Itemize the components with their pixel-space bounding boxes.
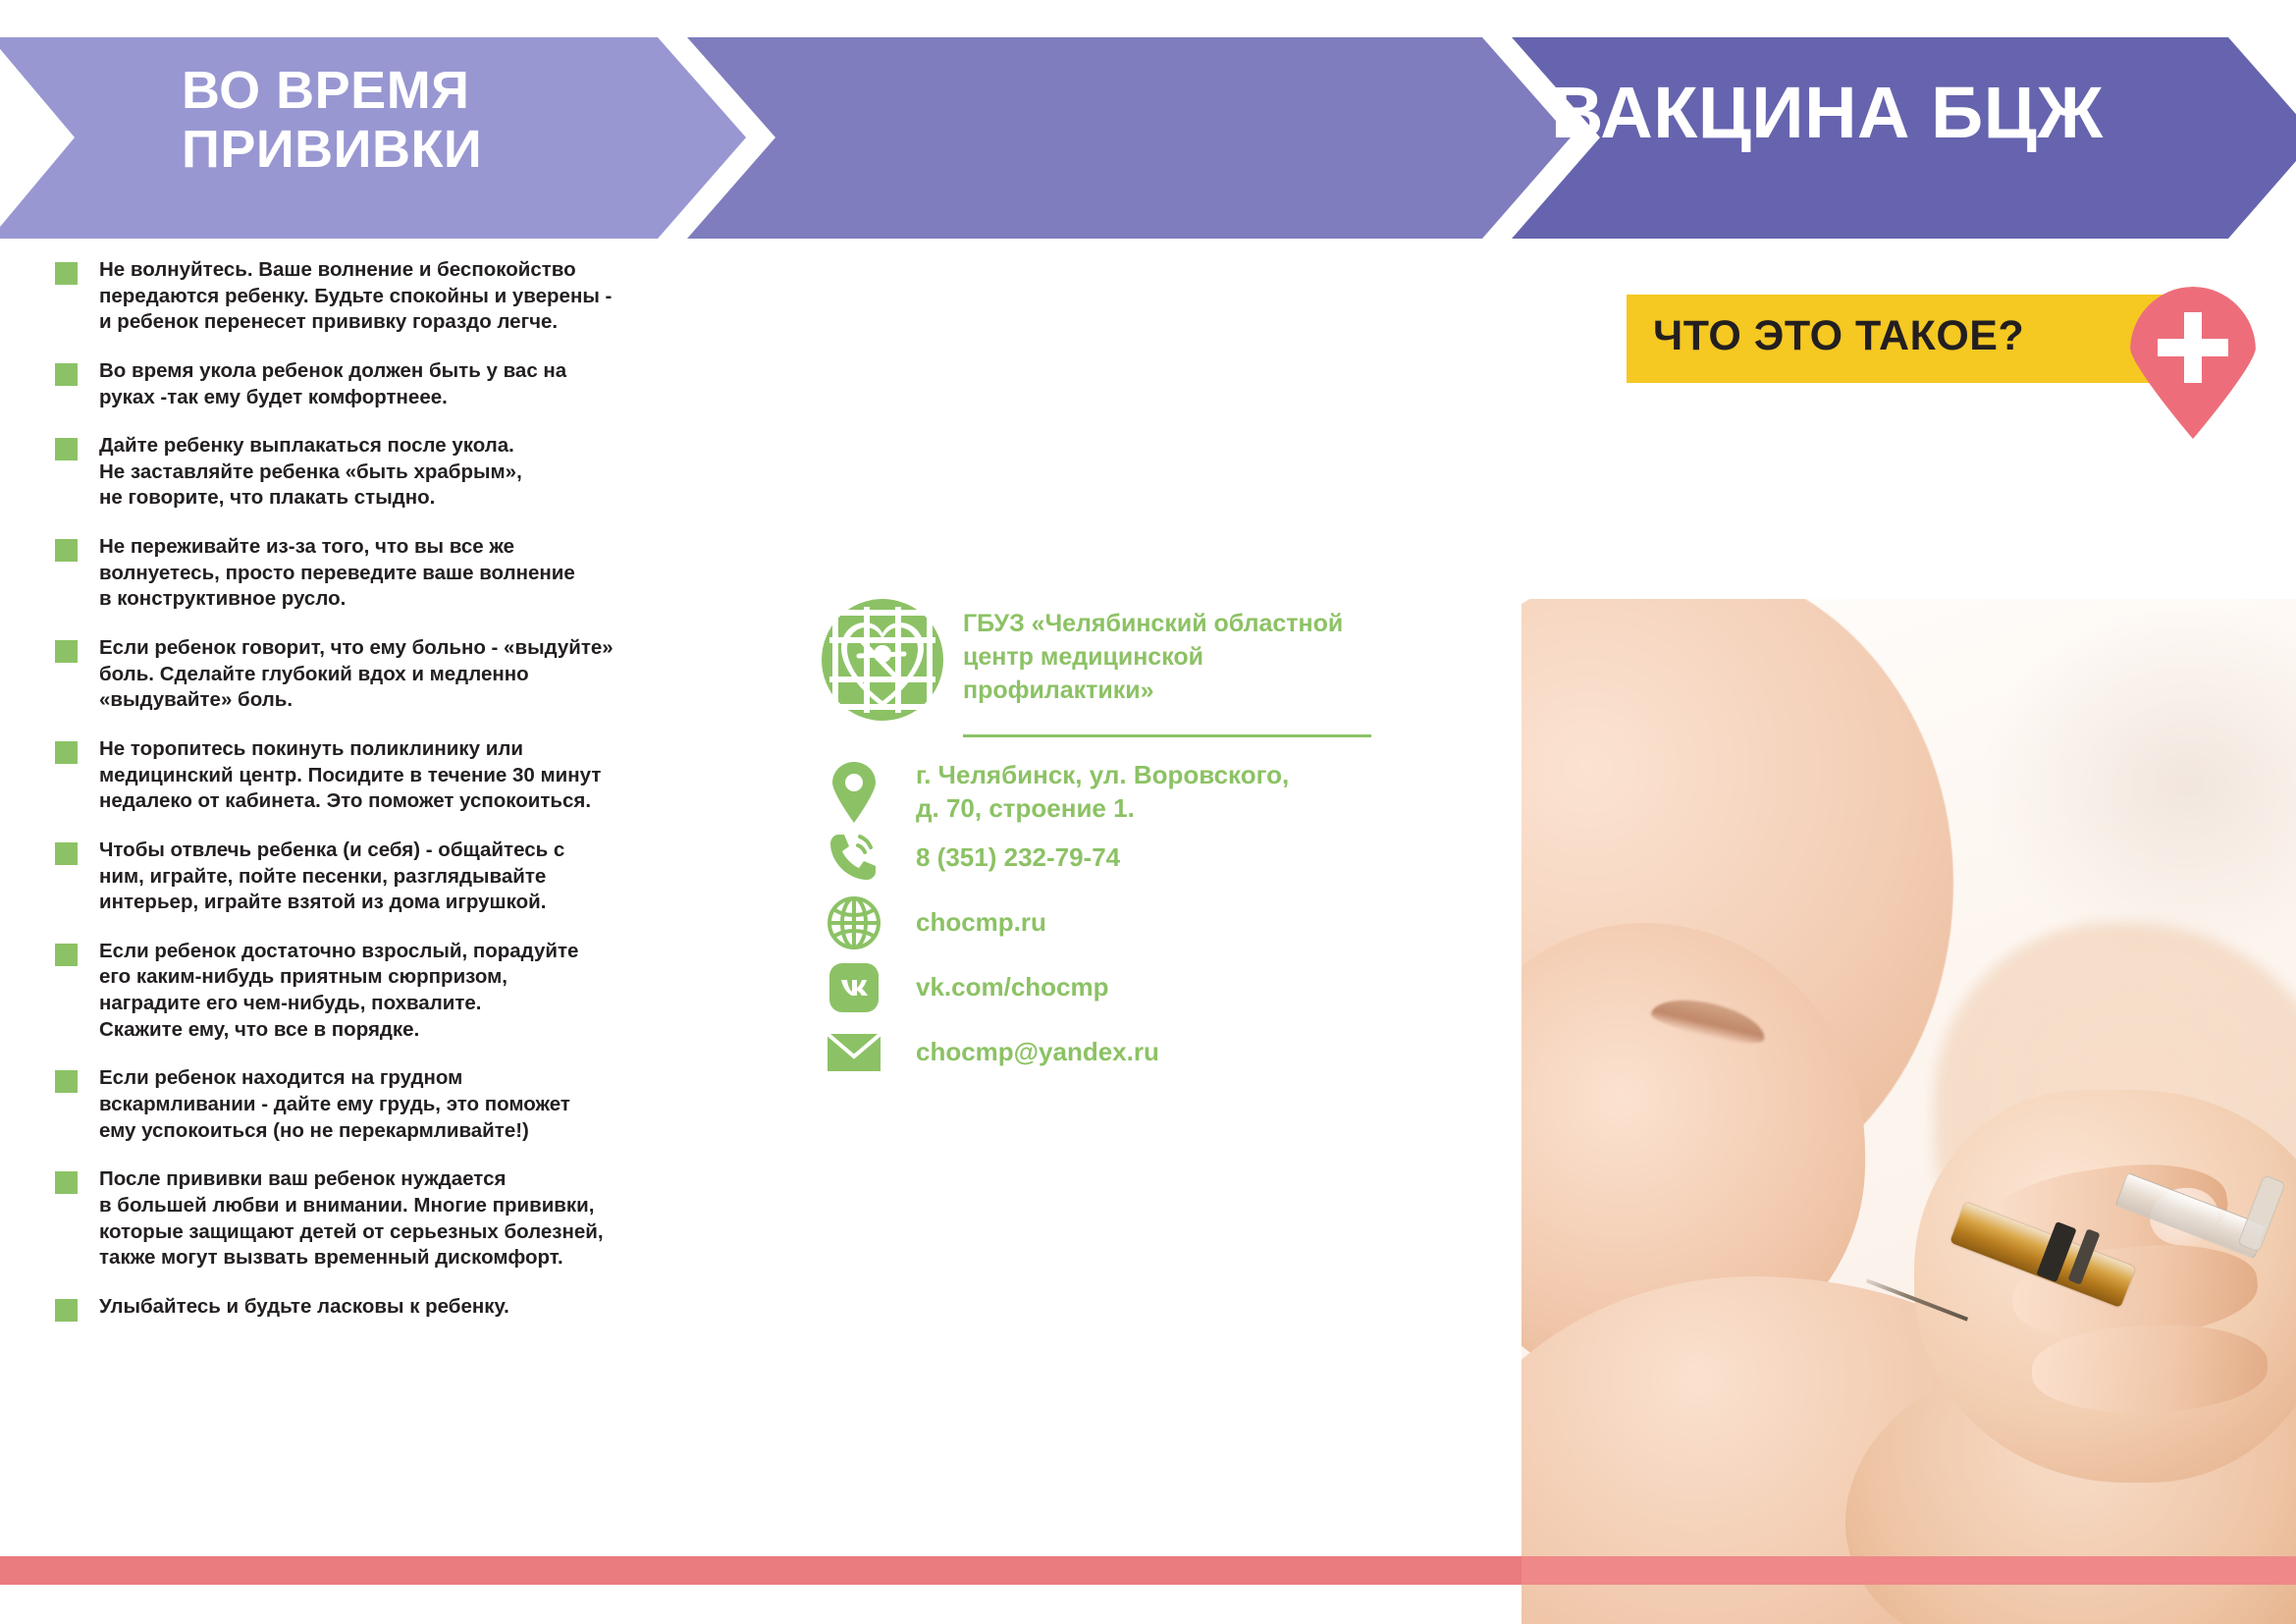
bottom-accent-bar-over-photo (1522, 1556, 2296, 1585)
contact-website-value[interactable]: chocmp.ru (916, 906, 1428, 940)
list-item-text: Чтобы отвлечь ребенка (и себя) - общайте… (99, 838, 693, 916)
list-item: Не переживайте из-за того, что вы все же… (55, 534, 693, 613)
list-item: Не волнуйтесь. Ваше волнение и беспокойс… (55, 257, 693, 336)
envelope-icon (820, 1022, 888, 1083)
bullet-square-icon (55, 438, 78, 460)
map-pin-plus-icon (2130, 287, 2256, 439)
list-item: Не торопитесь покинуть поликлинику или м… (55, 736, 693, 815)
contact-email-value[interactable]: chocmp@yandex.ru (916, 1036, 1428, 1069)
bullet-square-icon (55, 363, 78, 386)
contact-address-value: г. Челябинск, ул. Воровского, д. 70, стр… (916, 759, 1428, 826)
bullet-square-icon (55, 539, 78, 562)
list-item-text: Во время укола ребенок должен быть у вас… (99, 358, 693, 410)
bullet-square-icon (55, 262, 78, 285)
pin-cross-horizontal (2158, 339, 2228, 356)
header-title-left: ВО ВРЕМЯ ПРИВИВКИ (182, 61, 692, 180)
contact-divider (963, 734, 1371, 737)
list-item-text: Если ребенок достаточно взрослый, пораду… (99, 939, 693, 1044)
list-item: Во время укола ребенок должен быть у вас… (55, 358, 693, 410)
baby-vaccination-photo (1522, 599, 2296, 1624)
list-item-text: Если ребенок находится на грудном вскарм… (99, 1065, 693, 1144)
bullet-square-icon (55, 944, 78, 966)
advice-bullet-list: Не волнуйтесь. Ваше волнение и беспокойс… (55, 257, 693, 1344)
contact-row-vk: vk.com/chocmp (820, 955, 1428, 1020)
contact-row-address: г. Челябинск, ул. Воровского, д. 70, стр… (820, 759, 1428, 826)
organization-name: ГБУЗ «Челябинский областной центр медици… (963, 597, 1428, 707)
callout-label: ЧТО ЭТО ТАКОЕ? (1653, 312, 2173, 360)
what-is-it-callout: ЧТО ЭТО ТАКОЕ? (1627, 287, 2296, 439)
header-title-right: ВАКЦИНА БЦЖ (1551, 77, 2277, 149)
list-item-text: Не торопитесь покинуть поликлинику или м… (99, 736, 693, 815)
list-item-text: Если ребенок говорит, что ему больно - «… (99, 635, 693, 714)
organization-row: ГБУЗ «Челябинский областной центр медици… (820, 597, 1428, 723)
list-item: Улыбайтесь и будьте ласковы к ребенку. (55, 1294, 693, 1322)
list-item: Если ребенок говорит, что ему больно - «… (55, 635, 693, 714)
vk-icon (820, 957, 888, 1018)
bullet-square-icon (55, 1171, 78, 1194)
list-item-text: Дайте ребенку выплакаться после укола. Н… (99, 433, 693, 512)
list-item: Дайте ребенку выплакаться после укола. Н… (55, 433, 693, 512)
bullet-square-icon (55, 1299, 78, 1322)
list-item: Если ребенок достаточно взрослый, пораду… (55, 939, 693, 1044)
bullet-square-icon (55, 741, 78, 764)
bullet-square-icon (55, 1070, 78, 1093)
contact-block: ГБУЗ «Челябинский областной центр медици… (820, 597, 1428, 1085)
contact-vk-value[interactable]: vk.com/chocmp (916, 971, 1428, 1004)
globe-icon (820, 893, 888, 953)
map-pin-icon (820, 762, 888, 823)
contact-details-list: г. Челябинск, ул. Воровского, д. 70, стр… (820, 759, 1428, 1085)
contact-phone-value: 8 (351) 232-79-74 (916, 841, 1428, 875)
list-item: Чтобы отвлечь ребенка (и себя) - общайте… (55, 838, 693, 916)
list-item-text: Не волнуйтесь. Ваше волнение и беспокойс… (99, 257, 693, 336)
contact-row-phone: 8 (351) 232-79-74 (820, 826, 1428, 891)
page-header: ВО ВРЕМЯ ПРИВИВКИ ВАКЦИНА БЦЖ (0, 0, 2296, 244)
bullet-square-icon (55, 842, 78, 865)
list-item-text: Не переживайте из-за того, что вы все же… (99, 534, 693, 613)
list-item-text: После прививки ваш ребенок нуждается в б… (99, 1166, 693, 1272)
list-item: Если ребенок находится на грудном вскарм… (55, 1065, 693, 1144)
list-item: После прививки ваш ребенок нуждается в б… (55, 1166, 693, 1272)
phone-icon (820, 828, 888, 889)
contact-row-email: chocmp@yandex.ru (820, 1020, 1428, 1085)
contact-row-website: chocmp.ru (820, 891, 1428, 955)
heart-in-circle-logo (820, 597, 945, 723)
list-item-text: Улыбайтесь и будьте ласковы к ребенку. (99, 1294, 693, 1321)
header-band-middle (687, 37, 1571, 239)
bullet-square-icon (55, 640, 78, 663)
